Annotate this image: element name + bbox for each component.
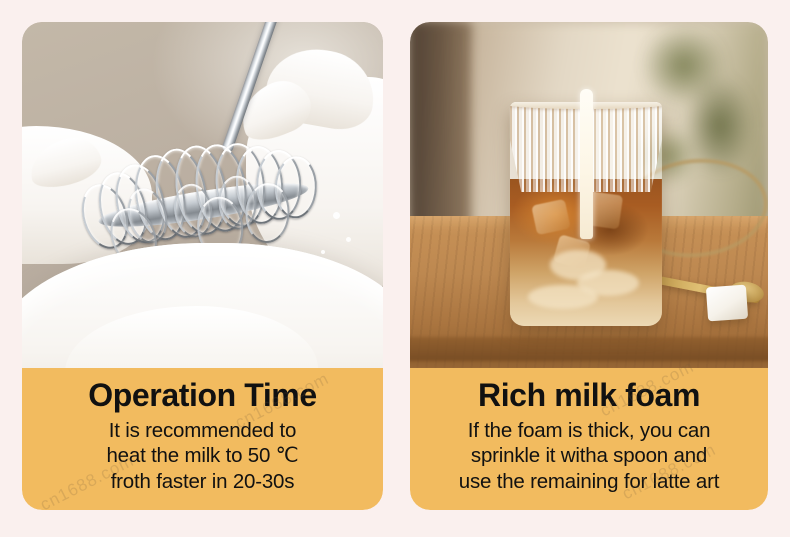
caption-title: Rich milk foam [416,378,762,414]
milk-swirl [528,285,598,309]
ribbed-glass [510,102,662,326]
caption-body: It is recommended to heat the milk to 50… [28,418,377,494]
milk-droplet [333,212,340,219]
caption-title: Operation Time [28,378,377,414]
iced-latte-photo [410,22,768,368]
caption-body: If the foam is thick, you can sprinkle i… [416,418,762,494]
sugar-cube [705,284,747,321]
whisk-coil-ring-lower [244,182,291,244]
milk-droplet [346,237,351,242]
whisk-milk-photo [22,22,383,368]
caption-rich-milk-foam: Rich milk foam If the foam is thick, you… [410,368,768,510]
table-edge [410,337,768,361]
panel-rich-milk-foam: Rich milk foam If the foam is thick, you… [410,22,768,510]
product-infographic: Operation Time It is recommended to heat… [0,0,790,537]
background-door-frame [410,22,471,243]
caption-operation-time: Operation Time It is recommended to heat… [22,368,383,510]
ice-cube [532,199,571,235]
panel-operation-time: Operation Time It is recommended to heat… [22,22,383,510]
milk-pour-stream [580,89,593,239]
